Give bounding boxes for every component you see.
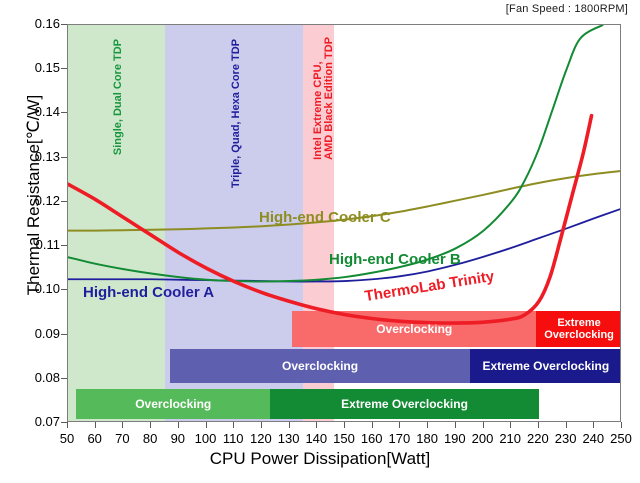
y-tick-label: 0.14	[14, 104, 60, 119]
x-tick-mark	[206, 422, 207, 428]
x-tick-mark	[150, 422, 151, 428]
y-tick-label: 0.16	[14, 16, 60, 31]
high-end-cooler-c-label: High-end Cooler C	[259, 209, 391, 226]
y-tick-label: 0.10	[14, 281, 60, 296]
x-tick-mark	[593, 422, 594, 428]
x-tick-label: 250	[601, 431, 640, 446]
high-end-cooler-b-label: High-end Cooler B	[329, 251, 461, 268]
y-tick-label: 0.09	[14, 326, 60, 341]
x-tick-mark	[122, 422, 123, 428]
x-tick-mark	[483, 422, 484, 428]
x-tick-mark	[344, 422, 345, 428]
x-tick-mark	[510, 422, 511, 428]
x-tick-mark	[67, 422, 68, 428]
x-tick-mark	[455, 422, 456, 428]
y-tick-label: 0.08	[14, 370, 60, 385]
y-tick-label: 0.13	[14, 149, 60, 164]
x-tick-mark	[316, 422, 317, 428]
x-axis-label: CPU Power Dissipation[Watt]	[0, 449, 640, 469]
y-tick-label: 0.15	[14, 60, 60, 75]
x-tick-mark	[621, 422, 622, 428]
x-tick-mark	[261, 422, 262, 428]
fan-speed-annotation: [Fan Speed : 1800RPM]	[506, 3, 628, 15]
x-tick-mark	[233, 422, 234, 428]
y-tick-label: 0.07	[14, 414, 60, 429]
x-tick-mark	[399, 422, 400, 428]
x-tick-mark	[566, 422, 567, 428]
x-tick-mark	[178, 422, 179, 428]
x-tick-mark	[538, 422, 539, 428]
high-end-cooler-a-label: High-end Cooler A	[83, 284, 214, 301]
curve-high-end-cooler-b	[68, 25, 603, 281]
x-tick-mark	[289, 422, 290, 428]
x-tick-mark	[427, 422, 428, 428]
x-tick-mark	[95, 422, 96, 428]
x-tick-mark	[372, 422, 373, 428]
thermal-resistance-chart: [Fan Speed : 1800RPM] Thermal Resistance…	[0, 0, 640, 483]
y-tick-label: 0.12	[14, 193, 60, 208]
y-tick-label: 0.11	[14, 237, 60, 252]
plot-area: Single, Dual Core TDPTriple, Quad, Hexa …	[67, 24, 621, 422]
